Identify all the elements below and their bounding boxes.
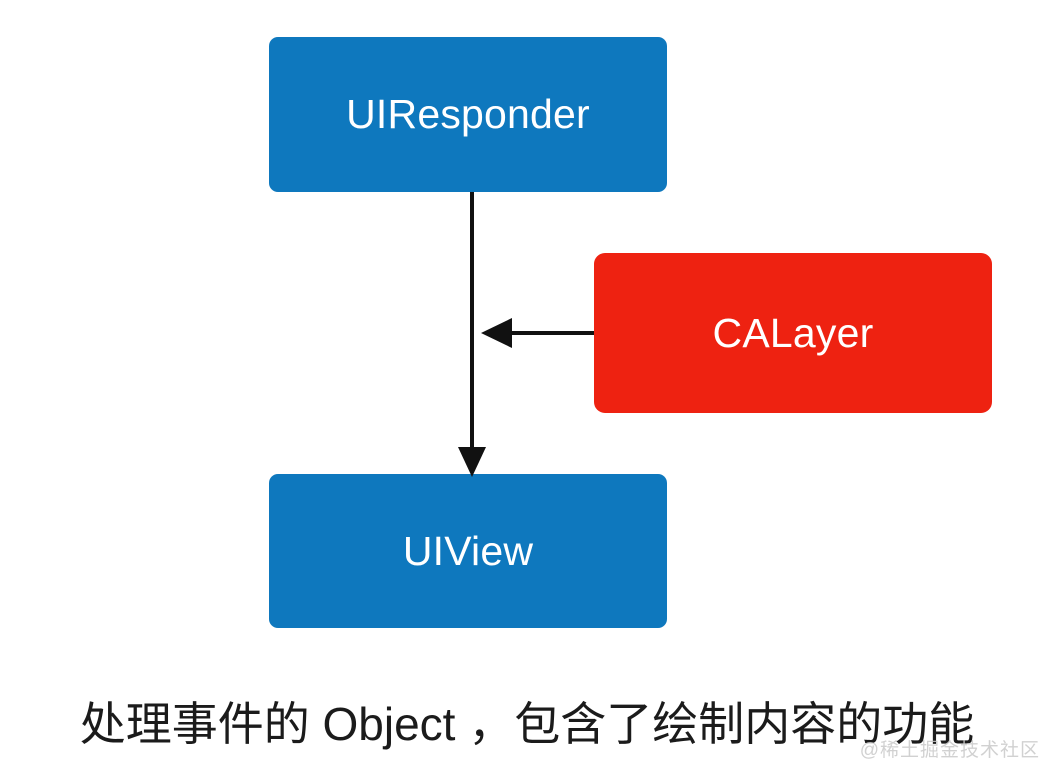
node-uiview-label: UIView [403, 528, 533, 575]
node-calayer-label: CALayer [713, 310, 874, 357]
node-calayer[interactable]: CALayer [594, 253, 992, 413]
arrow-calayer-to-uiview-head [481, 318, 512, 348]
arrow-uiresponder-to-uiview [458, 192, 486, 477]
node-uiview[interactable]: UIView [269, 474, 667, 628]
node-uiresponder[interactable]: UIResponder [269, 37, 667, 192]
watermark: @稀土掘金技术社区 [860, 735, 1040, 762]
node-uiresponder-label: UIResponder [346, 91, 590, 138]
arrow-uiresponder-to-uiview-head [458, 447, 486, 477]
arrow-calayer-to-uiview [481, 318, 594, 348]
diagram-canvas: UIResponder CALayer UIView 处理事件的 Object … [0, 0, 1054, 780]
